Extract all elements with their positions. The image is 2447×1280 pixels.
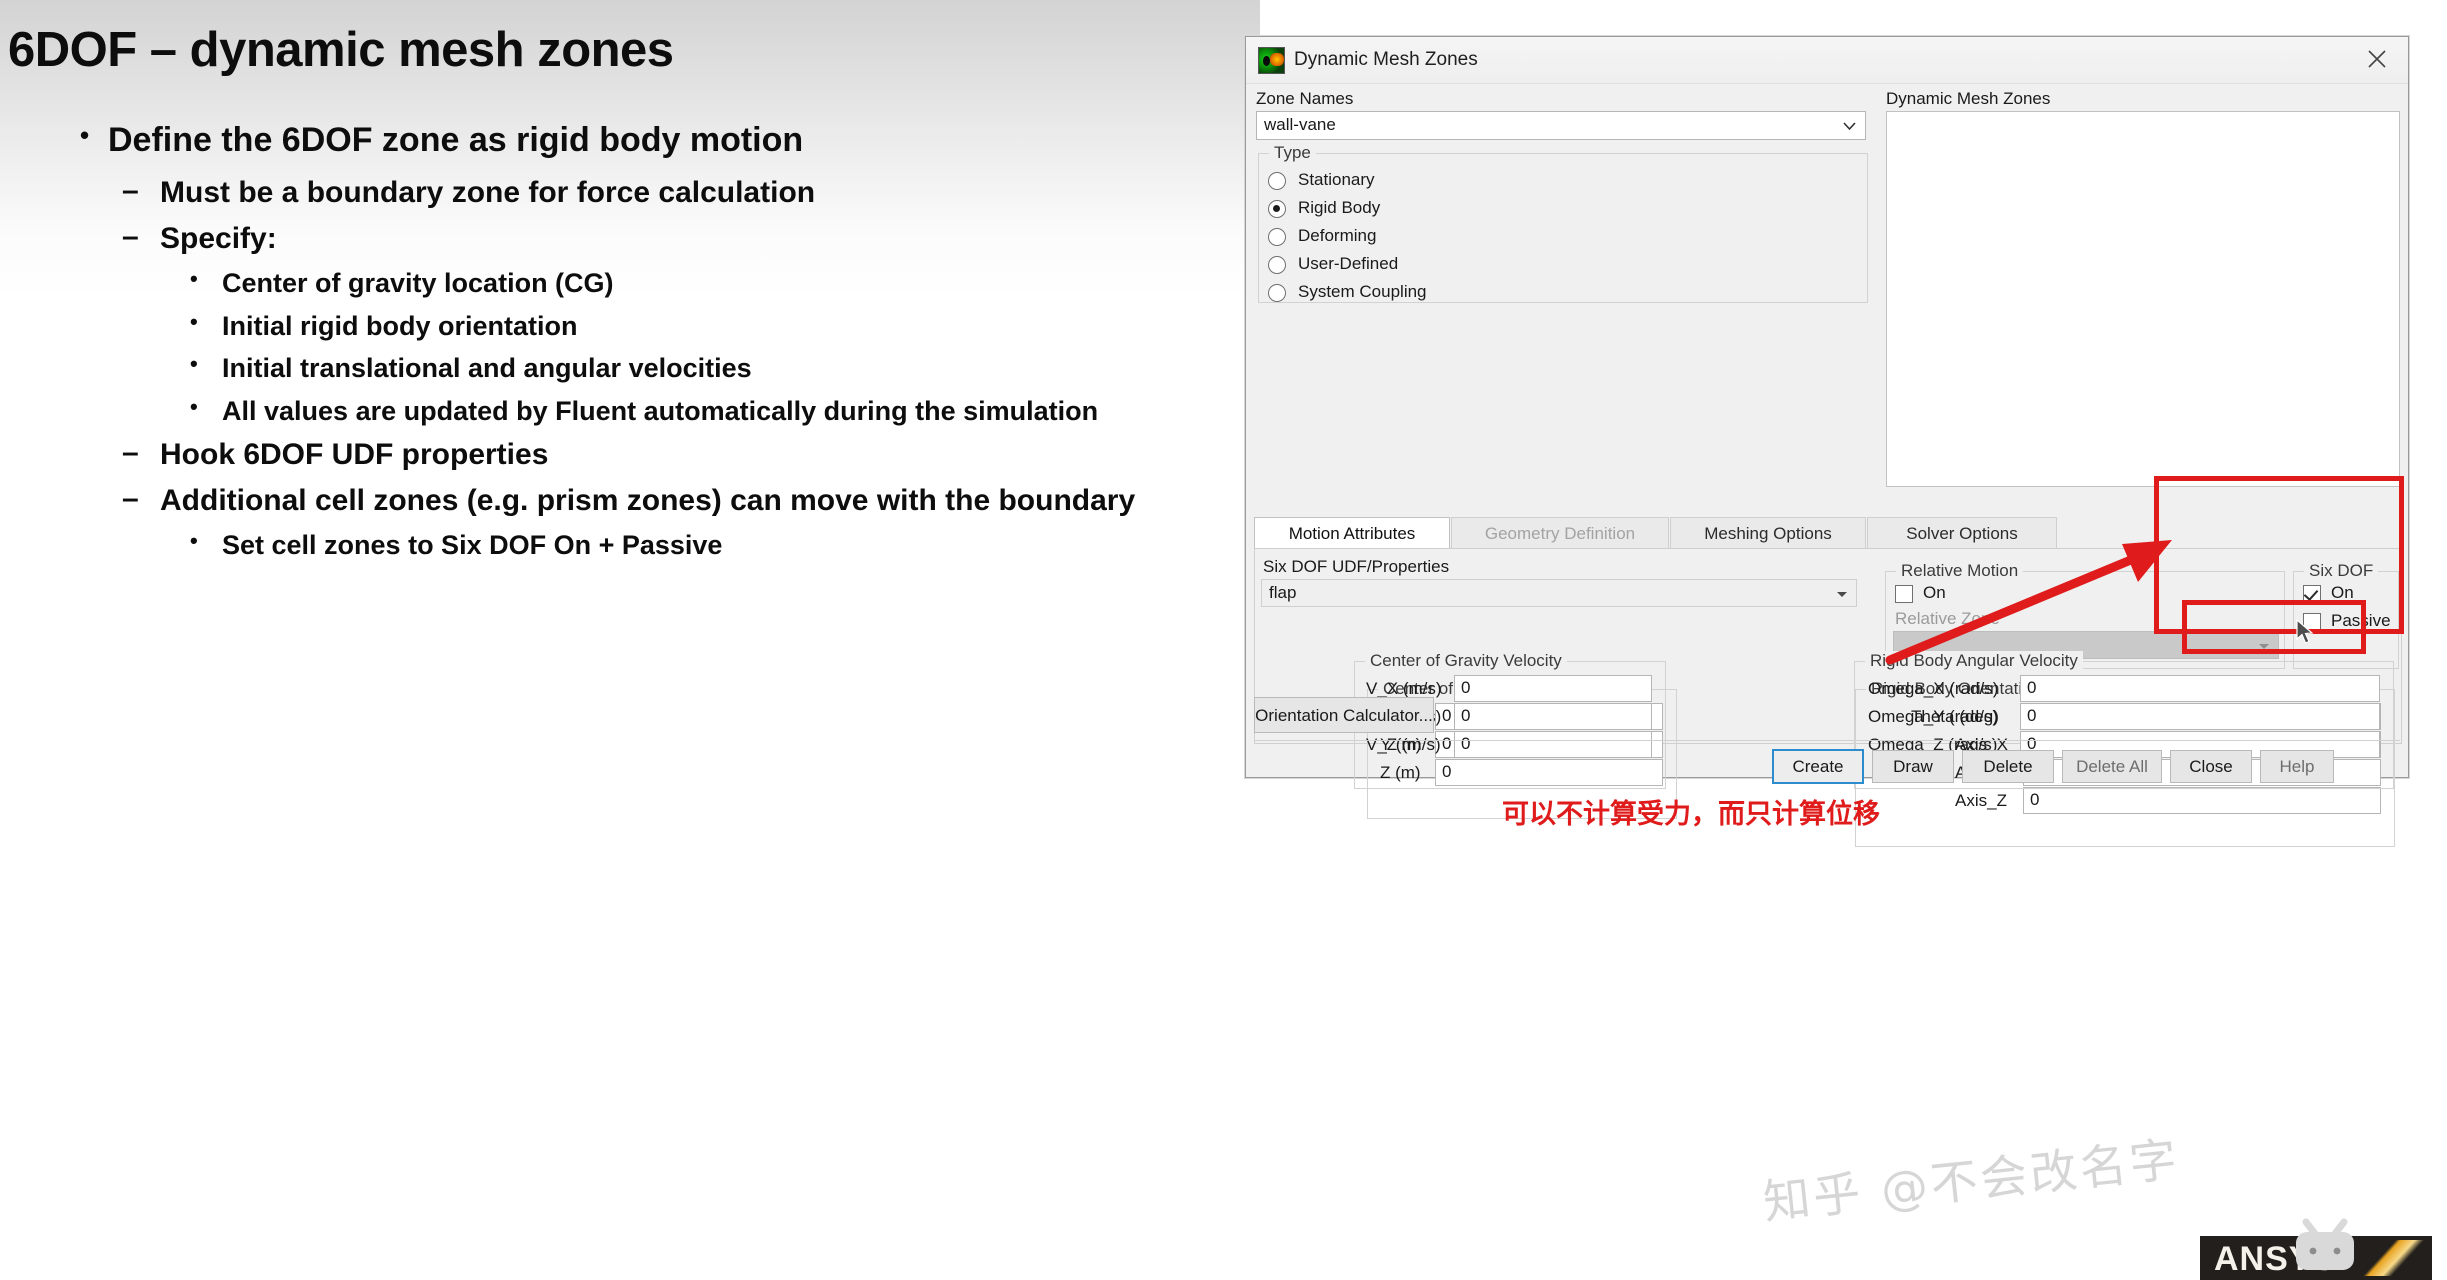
delete-button[interactable]: Delete — [1962, 750, 2054, 783]
list-item-text: Hook 6DOF UDF properties — [160, 438, 548, 471]
omega-y-input[interactable]: 0 — [2020, 703, 2380, 730]
omega-x-input[interactable]: 0 — [2020, 675, 2380, 702]
tab-geometry-definition[interactable]: Geometry Definition — [1451, 517, 1669, 549]
vz-label: V_Z (m/s) — [1366, 735, 1441, 755]
six-dof-title: Six DOF — [2304, 561, 2378, 581]
list-item-text: Define the 6DOF zone as rigid body motio… — [108, 121, 803, 159]
mesh-zones-listbox[interactable] — [1886, 111, 2400, 487]
list-item: • Initial rigid body orientation — [60, 310, 1250, 342]
bullet-marker-icon: – — [122, 173, 139, 209]
axis-z-label: Axis_Z — [1955, 791, 2007, 811]
radio-rigid-body[interactable] — [1268, 200, 1286, 218]
six-dof-udf-select[interactable]: flap — [1261, 579, 1857, 607]
draw-button[interactable]: Draw — [1872, 750, 1954, 783]
ansys-swoosh-icon — [2350, 1240, 2428, 1276]
radio-label-rigid-body: Rigid Body — [1298, 198, 1380, 218]
chevron-down-icon — [1842, 116, 1857, 136]
chevron-down-icon — [2258, 635, 2270, 655]
checkbox-six-dof-passive[interactable] — [2303, 613, 2321, 631]
list-item: – Must be a boundary zone for force calc… — [60, 175, 1250, 211]
divider — [1254, 740, 2400, 741]
close-button[interactable]: Close — [2170, 750, 2252, 783]
radio-deforming[interactable] — [1268, 228, 1286, 246]
dialog-title: Dynamic Mesh Zones — [1294, 49, 1478, 71]
zone-names-value: wall-vane — [1264, 115, 1336, 135]
radio-label-system-coupling: System Coupling — [1298, 282, 1427, 302]
tab-motion-attributes[interactable]: Motion Attributes — [1254, 517, 1450, 549]
watermark-text: 知乎 @不会改名字 — [1760, 1120, 2183, 1232]
list-item-text: Initial translational and angular veloci… — [222, 353, 752, 383]
orientation-calculator-button[interactable]: Orientation Calculator... — [1254, 697, 1434, 733]
radio-label-deforming: Deforming — [1298, 226, 1376, 246]
list-item: – Additional cell zones (e.g. prism zone… — [60, 483, 1250, 519]
close-icon[interactable] — [2356, 43, 2398, 75]
list-item-text: Initial rigid body orientation — [222, 311, 578, 341]
list-item: • All values are updated by Fluent autom… — [60, 395, 1250, 427]
rb-angular-velocity-title: Rigid Body Angular Velocity — [1865, 651, 2083, 671]
radio-user-defined[interactable] — [1268, 256, 1286, 274]
vz-input[interactable]: 0 — [1454, 731, 1652, 758]
list-item: • Center of gravity location (CG) — [60, 267, 1250, 299]
presentation-slide: 6DOF – dynamic mesh zones • Define the 6… — [0, 0, 1260, 1276]
tab-solver-options[interactable]: Solver Options — [1867, 517, 2057, 549]
bullet-marker-icon: • — [190, 528, 198, 554]
ansys-logo-text: ANSYS — [2214, 1240, 2336, 1279]
list-item: • Set cell zones to Six DOF On + Passive — [60, 529, 1250, 561]
list-item: • Define the 6DOF zone as rigid body mot… — [60, 120, 1250, 161]
omega-y-label: Omega_Y (rad/s) — [1868, 707, 1998, 727]
vy-input[interactable]: 0 — [1454, 703, 1652, 730]
zone-names-select[interactable]: wall-vane — [1256, 111, 1866, 140]
list-item: – Hook 6DOF UDF properties — [60, 437, 1250, 473]
relative-zone-label: Relative Zone — [1895, 609, 2000, 629]
list-item-text: Center of gravity location (CG) — [222, 268, 614, 298]
list-item: – Specify: — [60, 221, 1250, 257]
radio-system-coupling[interactable] — [1268, 284, 1286, 302]
bullet-marker-icon: • — [190, 309, 198, 335]
dynamic-mesh-zones-dialog: Dynamic Mesh Zones Zone Names wall-vane … — [1245, 36, 2409, 778]
zone-names-label: Zone Names — [1256, 89, 1353, 109]
mesh-zones-list-label: Dynamic Mesh Zones — [1886, 89, 2050, 109]
list-item-text: All values are updated by Fluent automat… — [222, 396, 1098, 426]
tab-strip: Motion Attributes Geometry Definition Me… — [1254, 517, 2400, 549]
relative-motion-title: Relative Motion — [1896, 561, 2023, 581]
help-button[interactable]: Help — [2260, 750, 2334, 783]
vx-input[interactable]: 0 — [1454, 675, 1652, 702]
list-item-text: Specify: — [160, 222, 277, 255]
bullet-marker-icon: – — [122, 435, 139, 471]
radio-label-stationary: Stationary — [1298, 170, 1375, 190]
chevron-down-icon — [1836, 583, 1848, 603]
bullet-marker-icon: • — [190, 394, 198, 420]
list-item: • Initial translational and angular velo… — [60, 352, 1250, 384]
six-dof-udf-value: flap — [1269, 583, 1296, 603]
radio-label-user-defined: User-Defined — [1298, 254, 1398, 274]
bullet-marker-icon: • — [190, 266, 198, 292]
list-item-text: Additional cell zones (e.g. prism zones)… — [160, 484, 1135, 517]
six-dof-udf-label: Six DOF UDF/Properties — [1263, 557, 1449, 577]
omega-x-label: Omega_X (rad/s) — [1868, 679, 1998, 699]
axis-z-input[interactable]: 0 — [2023, 787, 2381, 814]
delete-all-button[interactable]: Delete All — [2062, 750, 2162, 783]
type-group-title: Type — [1269, 143, 1316, 163]
radio-stationary[interactable] — [1268, 172, 1286, 190]
fluent-app-icon — [1258, 47, 1285, 74]
vx-label: V_X (m/s) — [1366, 679, 1442, 699]
six-dof-passive-label: Passive — [2331, 611, 2391, 631]
checkbox-six-dof-on[interactable] — [2303, 585, 2321, 603]
page-title: 6DOF – dynamic mesh zones — [8, 22, 674, 78]
slide-bullet-list: • Define the 6DOF zone as rigid body mot… — [60, 120, 1250, 567]
create-button[interactable]: Create — [1772, 749, 1864, 784]
bullet-marker-icon: • — [80, 120, 89, 152]
checkbox-relative-motion-on[interactable] — [1895, 585, 1913, 603]
list-item-text: Set cell zones to Six DOF On + Passive — [222, 530, 722, 560]
list-item-text: Must be a boundary zone for force calcul… — [160, 176, 815, 209]
relative-motion-on-label: On — [1923, 583, 1946, 603]
bullet-marker-icon: – — [122, 219, 139, 255]
ansys-logo: ANSYS — [2200, 1236, 2432, 1280]
six-dof-on-label: On — [2331, 583, 2354, 603]
dialog-titlebar[interactable]: Dynamic Mesh Zones — [1246, 37, 2408, 84]
bullet-marker-icon: – — [122, 481, 139, 517]
tab-meshing-options[interactable]: Meshing Options — [1670, 517, 1866, 549]
cg-velocity-title: Center of Gravity Velocity — [1365, 651, 1567, 671]
bullet-marker-icon: • — [190, 351, 198, 377]
